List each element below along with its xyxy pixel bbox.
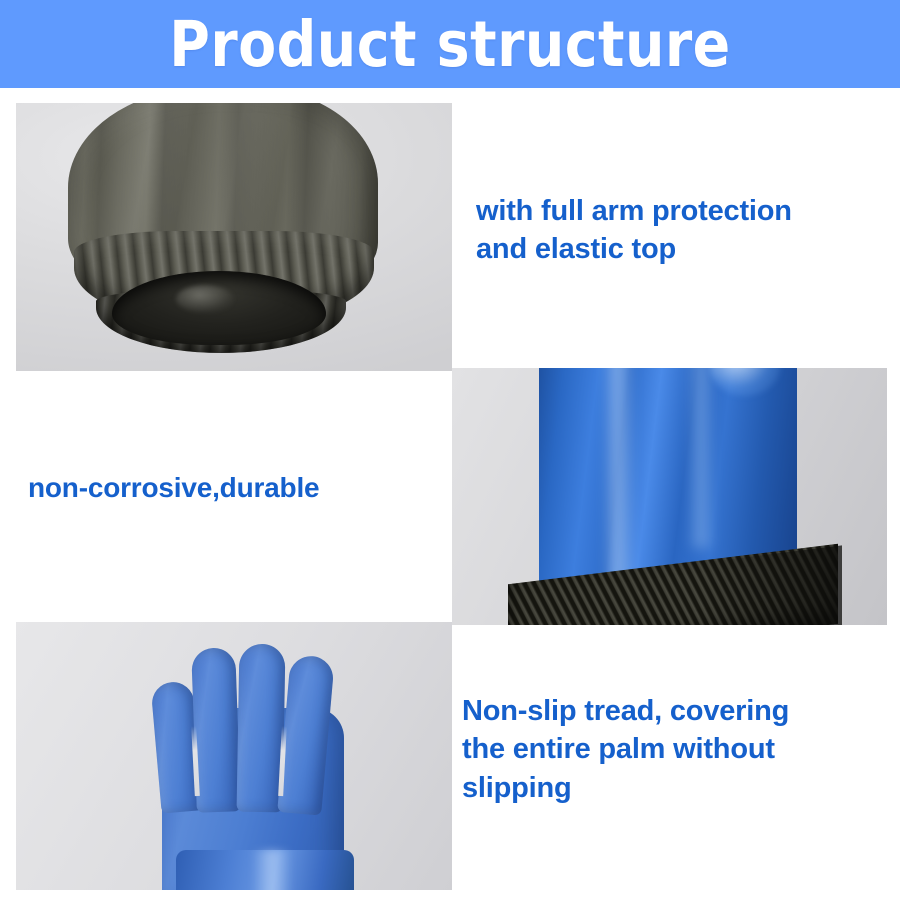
blue-sleeve-photo xyxy=(452,368,887,625)
sleeve-highlight-1 xyxy=(602,368,636,584)
product-structure-infographic: Product structure with full arm protecti… xyxy=(0,0,900,900)
caption-tread-line-3: slipping xyxy=(462,769,886,807)
page-title: Product structure xyxy=(169,13,730,76)
sleeve-highlight-2 xyxy=(688,368,714,548)
palm-scene xyxy=(16,622,452,890)
elastic-cuff-photo xyxy=(16,103,452,371)
caption-non-corrosive-line-1: non-corrosive,durable xyxy=(28,470,448,507)
header-banner: Product structure xyxy=(0,0,900,88)
sleeve-scene xyxy=(452,368,887,625)
caption-arm-line-2: and elastic top xyxy=(476,230,894,268)
cuff-opening-highlight xyxy=(176,285,234,313)
caption-arm-protection: with full arm protection and elastic top xyxy=(476,192,894,269)
caption-tread-line-2: the entire palm without xyxy=(462,730,886,768)
blue-palm-photo xyxy=(16,622,452,890)
caption-tread-line-1: Non-slip tread, covering xyxy=(462,692,886,730)
caption-non-corrosive: non-corrosive,durable xyxy=(28,470,448,507)
glove-wrist-highlight xyxy=(252,850,292,890)
caption-arm-line-1: with full arm protection xyxy=(476,192,894,230)
caption-non-slip-tread: Non-slip tread, covering the entire palm… xyxy=(462,692,886,807)
cuff-scene xyxy=(16,103,452,371)
